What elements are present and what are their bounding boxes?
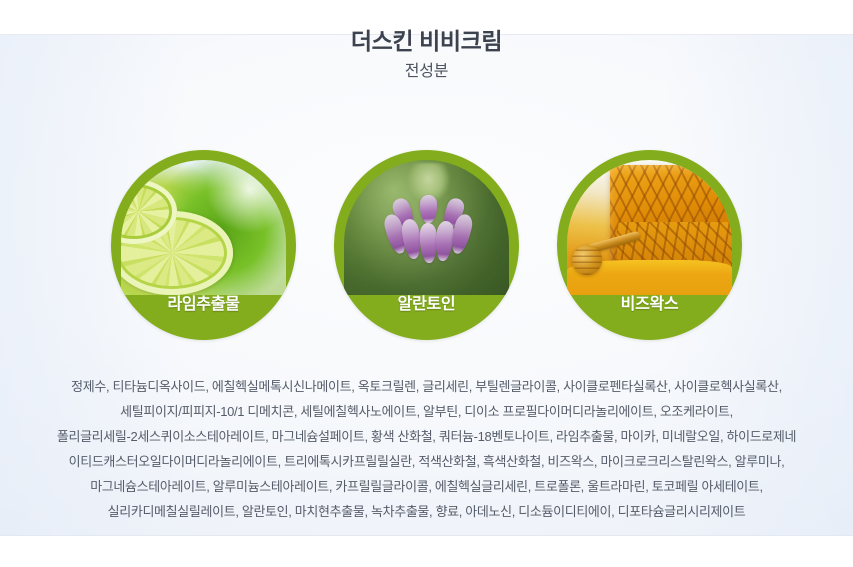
key-ingredient-label: 비즈왁스 xyxy=(557,290,742,314)
ingredient-line: 이티드캐스터오일다이머디라놀리에이트, 트리에톡시카프릴릴실란, 적색산화철, … xyxy=(0,449,853,474)
honeycomb-photo xyxy=(567,160,732,295)
ingredient-line: 세틸피이지/피피지-10/1 디메치콘, 세틸에칠헥사노에이트, 알부틴, 디이… xyxy=(0,399,853,424)
ingredient-info-page: 더스킨 비비크림 전성분 라임추출물 xyxy=(0,0,853,567)
full-ingredient-list: 정제수, 티타늄디옥사이드, 에칠헥실메톡시신나메이트, 옥토크릴렌, 글리세린… xyxy=(0,374,853,524)
photo-vignette xyxy=(344,160,509,295)
page-title: 더스킨 비비크림 xyxy=(0,26,853,56)
lime-photo xyxy=(121,160,286,295)
key-ingredient-label: 알란토인 xyxy=(334,290,519,314)
key-ingredient-card-beeswax: 비즈왁스 xyxy=(557,150,742,340)
ingredient-line: 정제수, 티타늄디옥사이드, 에칠헥실메톡시신나메이트, 옥토크릴렌, 글리세린… xyxy=(0,374,853,399)
honeycomb-illustration xyxy=(567,160,732,295)
key-ingredient-label: 라임추출물 xyxy=(111,290,296,314)
page-subtitle: 전성분 xyxy=(0,60,853,84)
ingredient-line: 마그네슘스테아레이트, 알루미늄스테아레이트, 카프릴릴글라이콜, 에칠헥실글리… xyxy=(0,474,853,499)
ingredient-line: 폴리글리세릴-2세스퀴이소스테아레이트, 마그네슘설페이트, 황색 산화철, 쿼… xyxy=(0,424,853,449)
key-ingredient-card-lime: 라임추출물 xyxy=(111,150,296,340)
lime-illustration xyxy=(121,160,286,295)
key-ingredient-list: 라임추출물 알란토인 xyxy=(0,150,853,345)
key-ingredient-card-allantoin: 알란토인 xyxy=(334,150,519,340)
page-header: 더스킨 비비크림 전성분 xyxy=(0,26,853,84)
comfrey-flower-photo xyxy=(344,160,509,295)
ingredient-line: 실리카디메칠실릴레이트, 알란토인, 마치현추출물, 녹차추출물, 향료, 아데… xyxy=(0,499,853,524)
honey-dipper-icon xyxy=(572,245,602,275)
comfrey-flower-illustration xyxy=(344,160,509,295)
